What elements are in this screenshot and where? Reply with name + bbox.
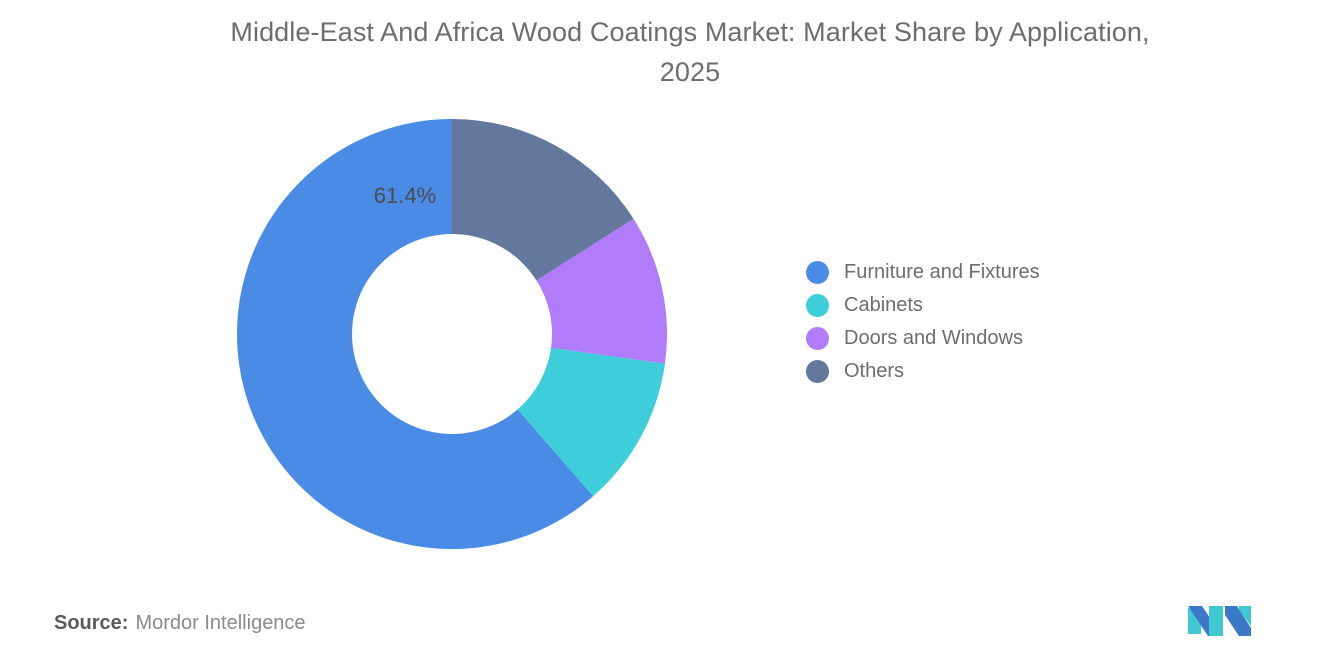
legend-item-label: Cabinets [844,294,923,317]
mordor-intelligence-logo-icon [1185,596,1255,640]
legend-color-swatch-icon [806,261,829,284]
source-name: Mordor Intelligence [135,612,305,634]
chart-legend: Furniture and Fixtures Cabinets Doors an… [806,256,1136,388]
source-label: Source: [54,612,128,634]
chart-title-line-2: 2025 [660,57,720,87]
legend-item-label: Others [844,360,904,383]
slice-value-label-furniture-and-fixtures: 61.4% [340,183,470,209]
legend-item-cabinets[interactable]: Cabinets [806,289,1136,322]
chart-title: Middle-East And Africa Wood Coatings Mar… [150,12,1230,92]
legend-color-swatch-icon [806,327,829,350]
legend-item-doors-and-windows[interactable]: Doors and Windows [806,322,1136,355]
legend-item-label: Doors and Windows [844,327,1023,350]
legend-item-furniture-and-fixtures[interactable]: Furniture and Fixtures [806,256,1136,289]
legend-item-label: Furniture and Fixtures [844,261,1040,284]
legend-color-swatch-icon [806,294,829,317]
chart-container: Middle-East And Africa Wood Coatings Mar… [0,0,1320,665]
legend-color-swatch-icon [806,360,829,383]
chart-title-line-1: Middle-East And Africa Wood Coatings Mar… [230,17,1149,47]
legend-item-others[interactable]: Others [806,355,1136,388]
source-attribution: Source:Mordor Intelligence [54,612,306,635]
